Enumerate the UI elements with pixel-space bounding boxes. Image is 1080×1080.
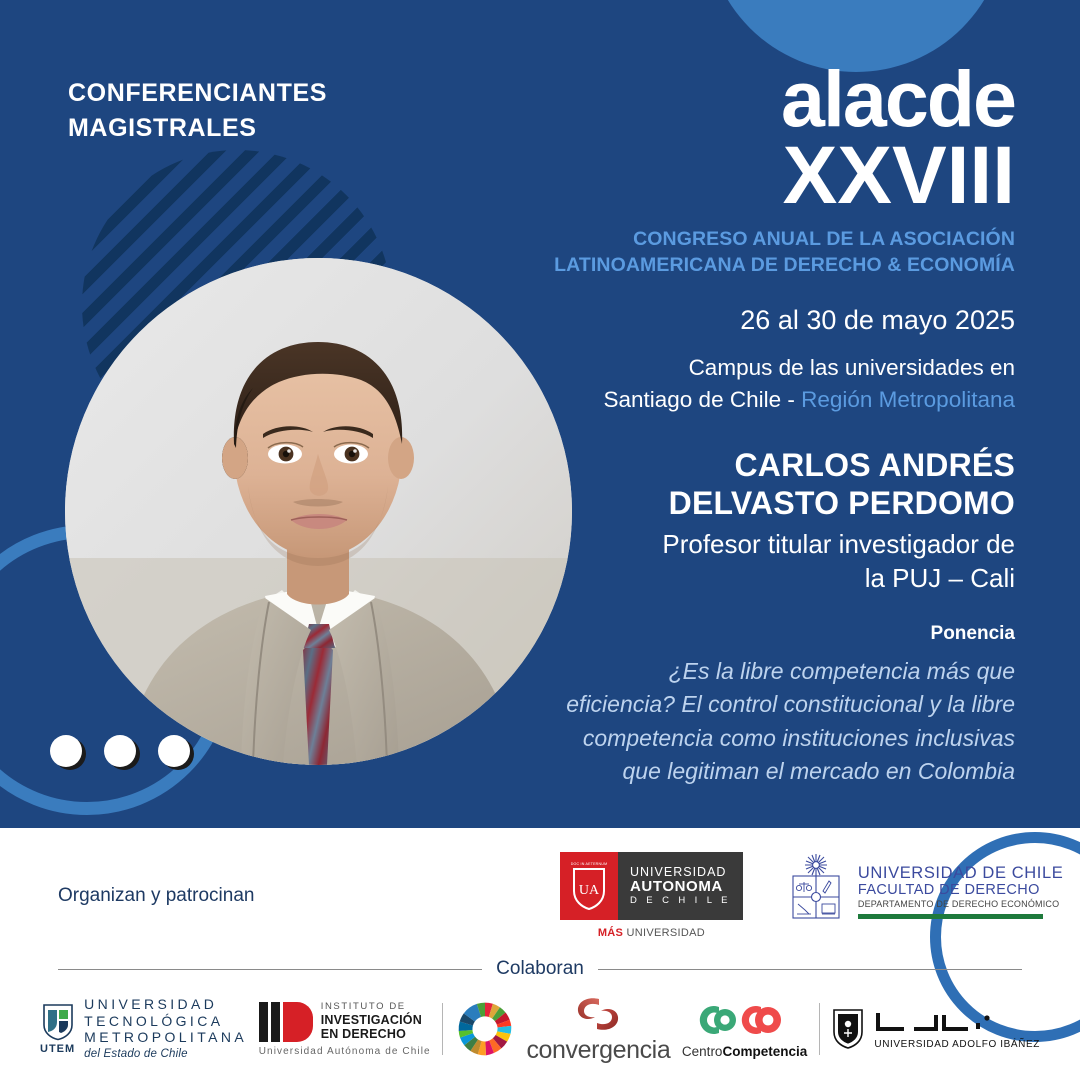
collaborators-label: Colaboran [496,958,584,980]
uch-green-bar [858,914,1043,919]
kicker-line-1: CONFERENCIANTES [68,76,327,111]
ceco-wordmark: CentroCompetencia [682,1044,807,1059]
ua-logo-row: DOC IN AETERNUM UA UNIVERSIDAD AUTONOMA … [560,852,743,920]
dot-2 [104,735,140,771]
ua-shield-icon: UA [572,867,606,911]
logo-utem: UTEM UNIVERSIDAD TECNOLÓGICA METROPOLITA… [40,996,247,1061]
iid-top-row: INSTITUTO DE INVESTIGACIÓN EN DERECHO [259,1002,431,1042]
dot-face [104,735,136,767]
dot-1 [50,735,86,771]
kicker-line-2: MAGISTRALES [68,111,327,146]
logo-convergencia: convergencia [526,994,670,1065]
main-blue-panel: CONFERENCIANTES MAGISTRALES alacde XXVII… [0,0,1080,828]
speaker-role: Profesor titular investigador de la PUJ … [445,528,1015,595]
utem-shield-icon [42,1003,74,1041]
logo-universidad-autonoma-de-chile: DOC IN AETERNUM UA UNIVERSIDAD AUTONOMA … [560,852,743,939]
speaker-role-line-2: la PUJ – Cali [445,562,1015,595]
logo-ceco: CentroCompetencia [682,999,807,1059]
logo-iid: INSTITUTO DE INVESTIGACIÓN EN DERECHO Un… [259,1002,431,1057]
uch-wordmark: UNIVERSIDAD DE CHILE FACULTAD DE DERECHO… [858,852,1063,919]
ua-shield-motto: DOC IN AETERNUM [571,862,608,866]
utem-line-1: UNIVERSIDAD [84,996,247,1013]
dot-face [158,735,190,767]
congress-subtitle: CONGRESO ANUAL DE LA ASOCIACIÓN LATINOAM… [445,227,1015,278]
iid-subtitle: Universidad Autónoma de Chile [259,1046,431,1057]
iid-d-shape [283,1002,313,1042]
dot-face [50,735,82,767]
speaker-name: CARLOS ANDRÉS DELVASTO PERDOMO [445,446,1015,523]
divider-line-right [598,969,1022,970]
poster-canvas: CONFERENCIANTES MAGISTRALES alacde XXVII… [0,0,1080,1080]
collaborator-logos: UTEM UNIVERSIDAD TECNOLÓGICA METROPOLITA… [40,990,1040,1068]
uch-crest-icon [785,852,847,922]
ua-tagline: MÁS UNIVERSIDAD [598,927,705,939]
iid-line-1: INSTITUTO DE [321,1002,422,1013]
utem-wordmark: UNIVERSIDAD TECNOLÓGICA METROPOLITANA de… [84,996,247,1061]
utem-line-4: del Estado de Chile [84,1048,247,1062]
brand-name: alacde [445,62,1015,135]
uai-right-block: UNIVERSIDAD ADOLFO IBÁÑEZ [874,1009,1040,1050]
utem-abbr: UTEM [40,1043,75,1055]
speaker-name-line-1: CARLOS ANDRÉS [445,446,1015,484]
utem-line-3: METROPOLITANA [84,1029,247,1046]
uch-line-1: UNIVERSIDAD DE CHILE [858,864,1063,882]
ua-tagline-strong: MÁS [598,927,623,939]
convergencia-wordmark: convergencia [526,1036,670,1065]
convergencia-mark-icon [569,994,627,1034]
sdg-wheel-icon [455,999,515,1059]
venue-city: Santiago de Chile - [603,387,801,412]
utem-mark: UTEM [40,1003,75,1055]
organizer-logos: DOC IN AETERNUM UA UNIVERSIDAD AUTONOMA … [560,852,1063,939]
utem-line-2: TECNOLÓGICA [84,1013,247,1030]
congress-subtitle-line-2: LATINOAMERICANA DE DERECHO & ECONOMÍA [445,253,1015,279]
event-dates: 26 al 30 de mayo 2025 [445,305,1015,336]
ua-line-1: UNIVERSIDAD [630,865,731,879]
uch-line-3: DEPARTAMENTO DE DERECHO ECONÓMICO [858,899,1063,911]
talk-label: Ponencia [445,623,1015,645]
logo-divider-1 [442,1003,443,1055]
logo-universidad-de-chile: UNIVERSIDAD DE CHILE FACULTAD DE DERECHO… [785,852,1063,922]
iid-bar-2 [271,1002,280,1042]
congress-subtitle-line-1: CONGRESO ANUAL DE LA ASOCIACIÓN [445,227,1015,253]
logo-universidad-adolfo-ibanez: UNIVERSIDAD ADOLFO IBÁÑEZ [831,1007,1040,1051]
ua-line-2: AUTONOMA [630,879,731,895]
event-info-column: alacde XXVIII CONGRESO ANUAL DE LA ASOCI… [445,62,1015,788]
event-venue: Campus de las universidades en Santiago … [445,352,1015,416]
talk-title-line-1: ¿Es la libre competencia más que [445,655,1015,688]
section-kicker: CONFERENCIANTES MAGISTRALES [68,76,327,145]
collaborators-divider: Colaboran [58,958,1022,980]
uai-crest-icon [831,1007,865,1051]
talk-title-line-4: que legitiman el mercado en Colombia [445,755,1015,788]
iid-line-3: EN DERECHO [321,1027,422,1041]
dot-3 [158,735,194,771]
uch-line-2: FACULTAD DE DERECHO [858,882,1063,899]
uai-wordmark: UNIVERSIDAD ADOLFO IBÁÑEZ [874,1039,1040,1050]
ua-shield-block: DOC IN AETERNUM UA [560,852,618,920]
venue-region: Región Metropolitana [801,387,1015,412]
logo-divider-2 [819,1003,820,1055]
talk-title: ¿Es la libre competencia más que eficien… [445,655,1015,788]
iid-wordmark: INSTITUTO DE INVESTIGACIÓN EN DERECHO [321,1002,422,1041]
organizers-label: Organizan y patrocinan [58,885,254,907]
uai-arabic-mark-icon [874,1009,996,1037]
ceco-word-light: Centro [682,1044,723,1059]
ua-tagline-rest: UNIVERSIDAD [623,927,705,939]
iid-line-2: INVESTIGACIÓN [321,1013,422,1027]
divider-line-left [58,969,482,970]
decorative-dots [50,735,194,771]
svg-text:UA: UA [579,883,600,898]
ceco-word-bold: Competencia [722,1044,807,1059]
ua-line-3: D E C H I L E [630,895,731,907]
talk-title-line-3: competencia como instituciones inclusiva… [445,722,1015,755]
venue-line-2: Santiago de Chile - Región Metropolitana [445,384,1015,416]
speaker-name-line-2: DELVASTO PERDOMO [445,484,1015,522]
talk-title-line-2: eficiencia? El control constitucional y … [445,688,1015,721]
iid-bar-1 [259,1002,268,1042]
ceco-mark-icon [693,999,797,1041]
speaker-role-line-1: Profesor titular investigador de [445,528,1015,561]
iid-mark-icon [259,1002,313,1042]
venue-line-1: Campus de las universidades en [445,352,1015,384]
ua-wordmark-block: UNIVERSIDAD AUTONOMA D E C H I L E [618,852,743,920]
brand-edition: XXVIII [445,137,1015,215]
